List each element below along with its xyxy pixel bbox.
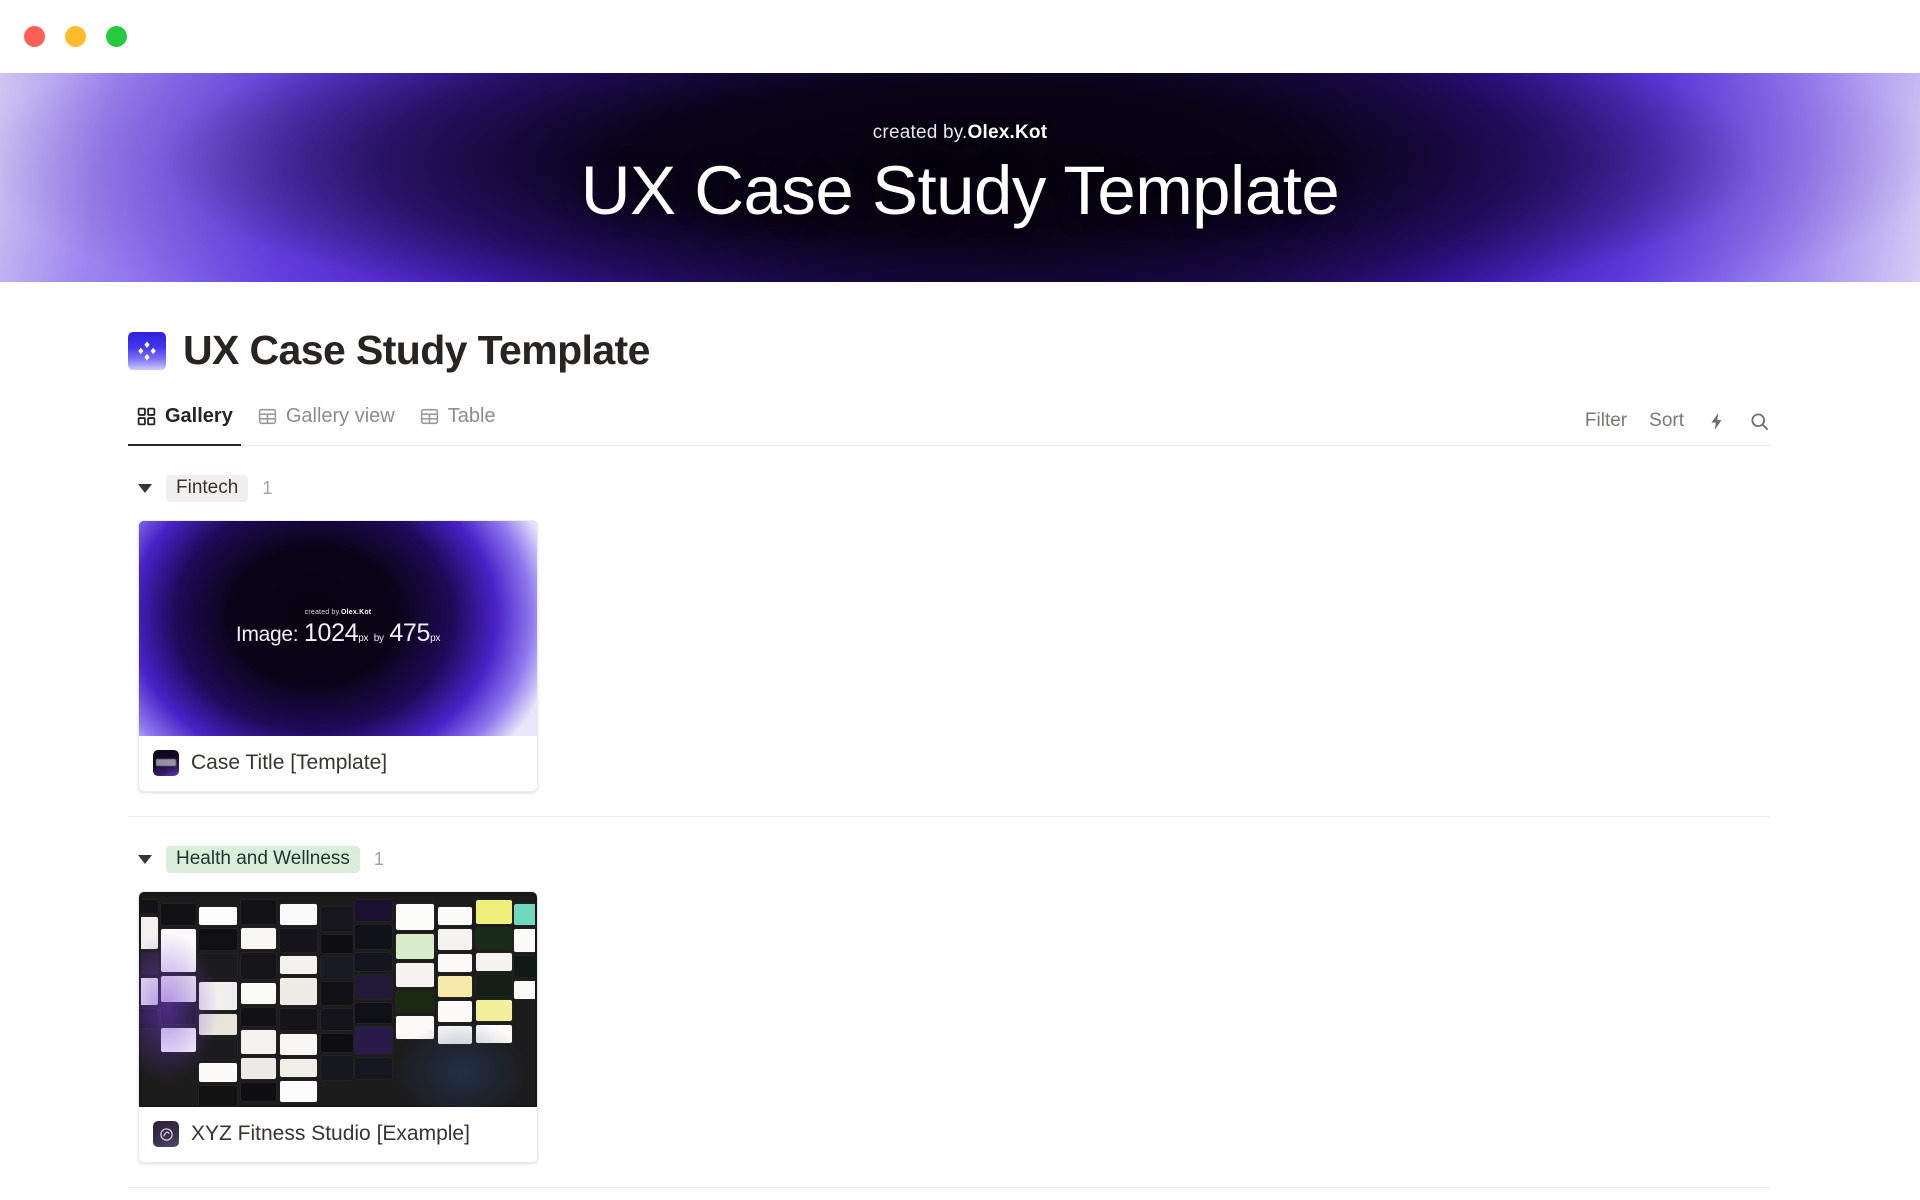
banner-credit: created by.Olex.Kot: [873, 122, 1048, 144]
group-header: Fintech 1: [138, 470, 1770, 506]
page-cover-banner: created by.Olex.Kot UX Case Study Templa…: [0, 73, 1920, 282]
search-icon[interactable]: [1749, 411, 1770, 432]
close-button[interactable]: [24, 26, 45, 47]
gallery-grid-icon: [136, 406, 157, 427]
cover-label: Image:: [236, 623, 298, 646]
card-title: XYZ Fitness Studio [Example]: [191, 1122, 470, 1146]
table-grid-icon: [419, 406, 440, 427]
tab-table-label: Table: [448, 405, 496, 428]
card-list: created by.Olex.Kot Image: 1024px by 475…: [128, 506, 1770, 816]
page-header: UX Case Study Template: [128, 282, 1770, 380]
group-header: Health and Wellness 1: [138, 841, 1770, 877]
maximize-button[interactable]: [106, 26, 127, 47]
cover-height: 475: [389, 619, 430, 647]
view-bar: Gallery Gallery view: [128, 398, 1770, 446]
card-cover-image: created by.Olex.Kot Image: 1024px by 475…: [139, 521, 537, 736]
window-titlebar: [0, 0, 1920, 73]
cover-credit-brand: Olex.Kot: [341, 609, 371, 616]
group-fintech: Fintech 1 created by.Olex.Kot Image: 102…: [128, 446, 1770, 817]
case-template-icon: [153, 750, 179, 776]
fitness-studio-icon: [153, 1121, 179, 1147]
filter-button[interactable]: Filter: [1585, 410, 1627, 432]
banner-credit-prefix: created by.: [873, 122, 968, 143]
cover-unit: px: [358, 633, 368, 644]
gallery-card[interactable]: created by.Olex.Kot Image: 1024px by 475…: [138, 520, 538, 792]
collapse-caret-icon[interactable]: [138, 855, 152, 864]
minimize-button[interactable]: [65, 26, 86, 47]
page-title: UX Case Study Template: [183, 327, 650, 374]
card-title: Case Title [Template]: [191, 751, 387, 775]
traffic-lights: [24, 26, 127, 47]
cover-credit: created by.Olex.Kot: [305, 609, 372, 616]
tab-gallery-view[interactable]: Gallery view: [249, 399, 403, 446]
group-count: 1: [262, 478, 272, 499]
table-grid-icon: [257, 406, 278, 427]
cover-width: 1024: [304, 619, 358, 647]
card-footer: XYZ Fitness Studio [Example]: [139, 1107, 537, 1162]
card-footer: Case Title [Template]: [139, 736, 537, 791]
group-no-industry: No Industry 0: [128, 1188, 1770, 1200]
tab-gallery-label: Gallery: [165, 405, 233, 428]
diamond-cluster-icon[interactable]: [128, 332, 166, 370]
gallery-card[interactable]: XYZ Fitness Studio [Example]: [138, 891, 538, 1163]
group-health-and-wellness: Health and Wellness 1 XYZ Fitness Studio…: [128, 817, 1770, 1188]
banner-credit-brand: Olex.Kot: [968, 122, 1048, 143]
view-tabs: Gallery Gallery view: [128, 398, 504, 445]
cover-size-label: Image: 1024px by 475px: [236, 619, 440, 648]
page-body: UX Case Study Template Gallery: [0, 282, 1920, 1200]
banner-title: UX Case Study Template: [581, 156, 1340, 225]
tab-gallery-view-label: Gallery view: [286, 405, 395, 428]
tab-gallery[interactable]: Gallery: [128, 399, 241, 446]
lightning-bolt-icon[interactable]: [1706, 411, 1727, 432]
group-label-fintech[interactable]: Fintech: [166, 475, 248, 502]
cover-credit-prefix: created by.: [305, 609, 341, 616]
sort-button[interactable]: Sort: [1649, 410, 1684, 432]
view-actions: Filter Sort: [1585, 410, 1770, 445]
group-label-health-and-wellness[interactable]: Health and Wellness: [166, 846, 360, 873]
group-count: 1: [374, 849, 384, 870]
cover-unit: px: [430, 633, 440, 644]
cover-by: by: [374, 633, 384, 644]
tab-table[interactable]: Table: [411, 399, 504, 446]
card-cover-image: [139, 892, 537, 1107]
collapse-caret-icon[interactable]: [138, 484, 152, 493]
card-list: XYZ Fitness Studio [Example]: [128, 877, 1770, 1187]
